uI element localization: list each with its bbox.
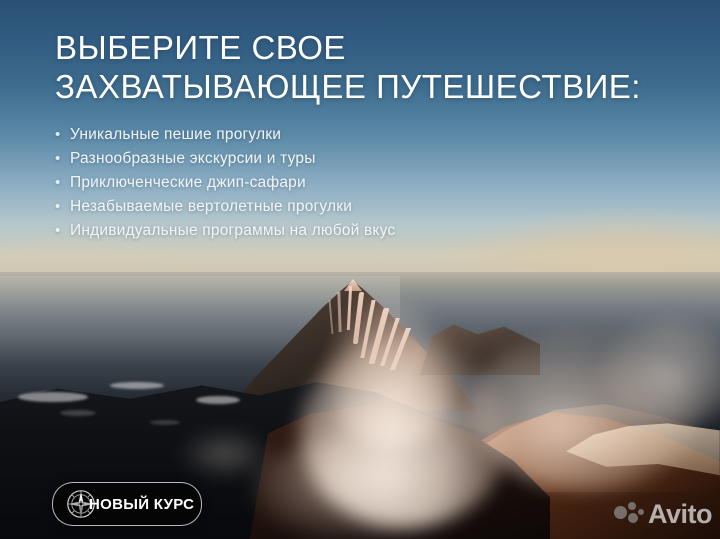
list-item-label: Приключенческие джип-сафари bbox=[70, 172, 306, 194]
bullet-marker-icon: • bbox=[55, 196, 70, 218]
list-item: • Разнообразные экскурсии и туры bbox=[55, 148, 655, 172]
snow-patch bbox=[196, 396, 240, 404]
avito-watermark: Avito bbox=[614, 497, 712, 531]
avito-dots-icon bbox=[614, 501, 644, 527]
bullet-marker-icon: • bbox=[55, 124, 70, 146]
steam-plume bbox=[250, 440, 450, 539]
brand-name-label: НОВЫЙ КУРС bbox=[89, 483, 194, 525]
list-item-label: Уникальные пешие прогулки bbox=[70, 124, 281, 146]
avito-wordmark-label: Avito bbox=[648, 501, 712, 528]
brand-logo-badge[interactable]: НОВЫЙ КУРС bbox=[52, 482, 202, 526]
promo-banner: ВЫБЕРИТЕ СВОЕ ЗАХВАТЫВАЮЩЕЕ ПУТЕШЕСТВИЕ:… bbox=[0, 0, 720, 539]
snow-patch bbox=[18, 392, 88, 402]
list-item-label: Разнообразные экскурсии и туры bbox=[70, 148, 316, 170]
bullet-marker-icon: • bbox=[55, 220, 70, 242]
feature-list: • Уникальные пешие прогулки • Разнообраз… bbox=[55, 124, 655, 244]
snow-patch bbox=[110, 382, 164, 389]
steam-plume bbox=[180, 430, 270, 478]
bullet-marker-icon: • bbox=[55, 172, 70, 194]
list-item: • Незабываемые вертолетные прогулки bbox=[55, 196, 655, 220]
page-title: ВЫБЕРИТЕ СВОЕ ЗАХВАТЫВАЮЩЕЕ ПУТЕШЕСТВИЕ: bbox=[55, 28, 675, 106]
list-item: • Приключенческие джип-сафари bbox=[55, 172, 655, 196]
bullet-marker-icon: • bbox=[55, 148, 70, 170]
snow-patch bbox=[150, 420, 180, 425]
snow-patch bbox=[60, 410, 96, 416]
list-item-label: Индивидуальные программы на любой вкус bbox=[70, 220, 395, 242]
list-item-label: Незабываемые вертолетные прогулки bbox=[70, 196, 352, 218]
list-item: • Уникальные пешие прогулки bbox=[55, 124, 655, 148]
list-item: • Индивидуальные программы на любой вкус bbox=[55, 220, 655, 244]
